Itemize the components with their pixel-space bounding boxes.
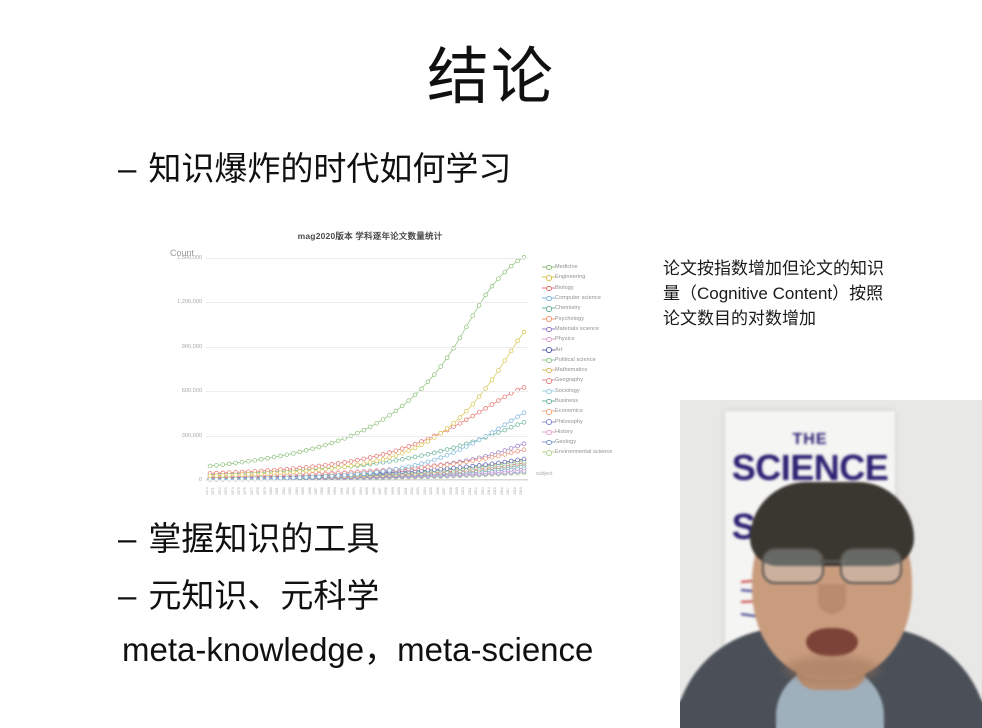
x-axis-tick-label: 1985	[301, 487, 305, 495]
x-axis-tick-label: 2013	[481, 487, 485, 495]
chart-gridline: 900,000	[206, 347, 528, 348]
legend-item-philosophy[interactable]: Philosophy	[542, 416, 638, 426]
legend-item-medicine[interactable]: Medicine	[542, 262, 638, 272]
x-axis-tick-label: 1978	[256, 487, 260, 495]
y-axis-tick-label: 1,200,000	[177, 299, 202, 305]
glasses-icon	[762, 548, 902, 582]
x-axis-tick-label: 1988	[320, 487, 324, 495]
legend-marker-icon	[542, 283, 555, 293]
x-axis-tick-label: 1977	[250, 487, 254, 495]
legend-item-business[interactable]: Business	[542, 396, 638, 406]
speaker-figure	[680, 400, 982, 728]
legend-label: Computer science	[555, 295, 601, 301]
x-axis-tick-label: 1980	[269, 487, 273, 495]
legend-marker-icon	[542, 447, 555, 457]
legend-item-materials-science[interactable]: Materials science	[542, 324, 638, 334]
legend-label: Engineering	[555, 274, 585, 280]
legend-label: Economics	[555, 408, 583, 414]
legend-marker-icon	[542, 396, 555, 406]
meta-knowledge-line: meta-knowledge，meta-science	[122, 628, 593, 672]
x-axis-tick-label: 1982	[282, 487, 286, 495]
annotation-line-1: 论文按指数增加但论文的知识	[663, 256, 963, 281]
legend-marker-icon	[542, 262, 555, 272]
x-axis-tick-label: 1987	[314, 487, 318, 495]
x-axis-tick-label: 2012	[474, 487, 478, 495]
x-axis-tick-label: 2002	[410, 487, 414, 495]
presentation-slide: 结论 – 知识爆炸的时代如何学习 mag2020版本 学科逐年论文数量统计 Co…	[0, 0, 982, 728]
chart-legend: MedicineEngineeringBiologyComputer scien…	[542, 262, 638, 458]
legend-label: Sociology	[555, 388, 580, 394]
x-axis-tick-label: 2000	[397, 487, 401, 495]
legend-label: Philosophy	[555, 419, 583, 425]
legend-marker-icon	[542, 303, 555, 313]
x-axis-tick-label: 2018	[513, 487, 517, 495]
legend-marker-icon	[542, 406, 555, 416]
x-axis-tick-label: 2003	[416, 487, 420, 495]
papers-per-discipline-chart: mag2020版本 学科逐年论文数量统计 Count 0300,000600,0…	[160, 228, 580, 496]
glasses-right-lens	[840, 548, 902, 584]
legend-item-art[interactable]: Art	[542, 344, 638, 354]
x-axis-tick-label: 2017	[506, 487, 510, 495]
legend-marker-icon	[542, 345, 555, 355]
y-axis-tick-label: 900,000	[182, 344, 202, 350]
y-axis-tick-label: 1,500,000	[177, 255, 202, 261]
chart-gridline: 1,200,000	[206, 302, 528, 303]
bullet-item-3: – 元知识、元科学	[118, 575, 379, 617]
chart-plot-area: 0300,000600,000900,0001,200,0001,500,000	[206, 258, 528, 480]
legend-marker-icon	[542, 417, 555, 427]
x-axis-tick-label: 1992	[346, 487, 350, 495]
speaker-chin-shadow	[784, 656, 880, 682]
legend-item-mathematics[interactable]: Mathematics	[542, 365, 638, 375]
legend-label: Business	[555, 398, 578, 404]
legend-label: Materials science	[555, 326, 599, 332]
x-axis-tick-label: 2016	[500, 487, 504, 495]
speaker-nose	[818, 584, 846, 614]
x-axis-tick-label: 2015	[493, 487, 497, 495]
legend-item-environmental-science[interactable]: Environmental science	[542, 447, 638, 457]
x-axis-tick-label: 1996	[372, 487, 376, 495]
x-axis-tick-label: 1994	[359, 487, 363, 495]
legend-marker-icon	[542, 314, 555, 324]
legend-label: Environmental science	[555, 449, 612, 455]
x-axis-tick-labels: 1970197119721973197419751976197719781979…	[206, 481, 528, 495]
x-axis-tick-label: 2005	[429, 487, 433, 495]
x-axis-tick-label: 2009	[455, 487, 459, 495]
annotation-text: 论文按指数增加但论文的知识 量（Cognitive Content）按照 论文数…	[663, 256, 963, 331]
bullet-item-2: – 掌握知识的工具	[118, 518, 379, 560]
bullet-dash: –	[118, 518, 136, 560]
legend-label: Political science	[555, 357, 596, 363]
legend-marker-icon	[542, 365, 555, 375]
x-axis-label: subject	[536, 471, 552, 477]
legend-marker-icon	[542, 355, 555, 365]
x-axis-tick-label: 1989	[327, 487, 331, 495]
x-axis-tick-label: 1971	[211, 487, 215, 495]
x-axis-tick-label: 1993	[352, 487, 356, 495]
x-axis-tick-label: 1973	[224, 487, 228, 495]
legend-label: Art	[555, 347, 562, 353]
webcam-video-overlay[interactable]: THE SCIENCE OF SCIENCE ALBERT-LÁSZLÓ BAR…	[680, 400, 982, 728]
chart-gridline: 600,000	[206, 391, 528, 392]
x-axis-tick-label: 2014	[487, 487, 491, 495]
legend-label: Biology	[555, 285, 574, 291]
page-title: 结论	[0, 42, 982, 114]
chart-series-layer	[206, 258, 528, 480]
bullet-item-1: – 知识爆炸的时代如何学习	[118, 148, 511, 190]
y-axis-tick-label: 600,000	[182, 388, 202, 394]
x-axis-tick-label: 2011	[468, 488, 472, 495]
legend-marker-icon	[542, 334, 555, 344]
chart-gridline: 300,000	[206, 436, 528, 437]
legend-item-political-science[interactable]: Political science	[542, 355, 638, 365]
chart-series	[208, 330, 526, 478]
glasses-left-lens	[762, 548, 824, 584]
legend-item-physics[interactable]: Physics	[542, 334, 638, 344]
legend-item-psychology[interactable]: Psychology	[542, 313, 638, 323]
x-axis-tick-label: 1995	[365, 487, 369, 495]
legend-label: Medicine	[555, 264, 578, 270]
legend-marker-icon	[542, 427, 555, 437]
legend-marker-icon	[542, 437, 555, 447]
legend-label: Psychology	[555, 316, 584, 322]
legend-item-chemistry[interactable]: Chemistry	[542, 303, 638, 313]
x-axis-tick-label: 1976	[243, 487, 247, 495]
legend-marker-icon	[542, 375, 555, 385]
legend-label: Mathematics	[555, 367, 587, 373]
x-axis-tick-label: 1991	[340, 487, 344, 495]
legend-item-sociology[interactable]: Sociology	[542, 386, 638, 396]
x-axis-tick-label: 2008	[449, 487, 453, 495]
bullet-dash: –	[118, 575, 136, 617]
x-axis-tick-label: 1974	[231, 487, 235, 495]
x-axis-tick-label: 1984	[295, 487, 299, 495]
legend-marker-icon	[542, 386, 555, 396]
y-axis-tick-label: 300,000	[182, 433, 202, 439]
bullet-text: 元知识、元科学	[148, 575, 379, 617]
legend-item-engineering[interactable]: Engineering	[542, 272, 638, 282]
legend-marker-icon	[542, 324, 555, 334]
legend-label: Geology	[555, 439, 576, 445]
y-axis-tick-label: 0	[199, 477, 202, 483]
x-axis-tick-label: 1986	[308, 487, 312, 495]
legend-item-economics[interactable]: Economics	[542, 406, 638, 416]
x-axis-tick-label: 1990	[333, 487, 337, 495]
x-axis-tick-label: 1999	[391, 487, 395, 495]
x-axis-tick-label: 2006	[436, 487, 440, 495]
legend-item-geology[interactable]: Geology	[542, 437, 638, 447]
legend-marker-icon	[542, 293, 555, 303]
x-axis-tick-label: 1972	[218, 487, 222, 495]
x-axis-tick-label: 1975	[237, 487, 241, 495]
x-axis-tick-label: 1998	[384, 487, 388, 495]
chart-gridline: 1,500,000	[206, 258, 528, 259]
x-axis-tick-label: 1983	[288, 487, 292, 495]
legend-label: Physics	[555, 336, 575, 342]
annotation-line-2: 量（Cognitive Content）按照	[663, 281, 963, 306]
legend-item-biology[interactable]: Biology	[542, 283, 638, 293]
legend-item-computer-science[interactable]: Computer science	[542, 293, 638, 303]
legend-label: Chemistry	[555, 305, 581, 311]
x-axis-tick-label: 2019	[519, 487, 523, 495]
legend-item-geography[interactable]: Geography	[542, 375, 638, 385]
x-axis-tick-label: 2007	[442, 487, 446, 495]
x-axis-tick-label: 2010	[461, 487, 465, 495]
x-axis-tick-label: 1997	[378, 487, 382, 495]
x-axis-tick-label: 2004	[423, 487, 427, 495]
chart-title: mag2020版本 学科逐年论文数量统计	[160, 230, 580, 242]
legend-label: History	[555, 429, 573, 435]
x-axis-tick-label: 1981	[275, 487, 279, 495]
bullet-text: 掌握知识的工具	[148, 518, 379, 560]
speaker-mouth	[806, 628, 858, 656]
bullet-text: 知识爆炸的时代如何学习	[148, 148, 511, 190]
x-axis-tick-label: 1979	[263, 487, 267, 495]
bullet-dash: –	[118, 148, 136, 190]
x-axis-tick-label: 1970	[206, 487, 209, 495]
annotation-line-3: 论文数目的对数增加	[663, 306, 963, 331]
x-axis-tick-label: 2001	[404, 487, 408, 495]
legend-label: Geography	[555, 377, 583, 383]
legend-item-history[interactable]: History	[542, 427, 638, 437]
legend-marker-icon	[542, 272, 555, 282]
